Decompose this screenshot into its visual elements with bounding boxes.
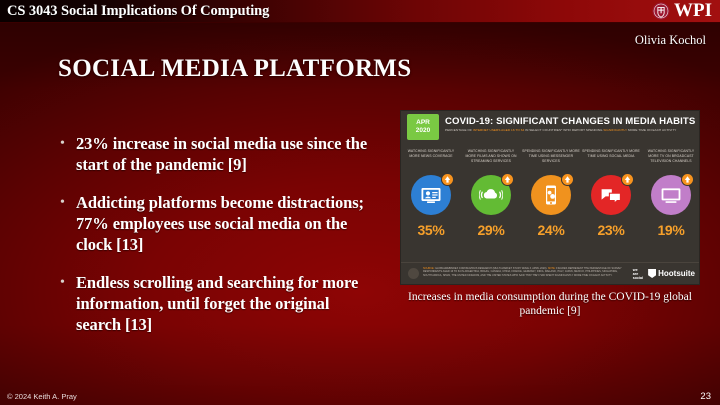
- hootsuite-logo: Hootsuite: [648, 269, 695, 278]
- infographic-columns: Watching significantly more news coverag…: [401, 149, 700, 261]
- badge-year: 2020: [416, 127, 430, 135]
- stat-label: Watching significantly more news coverag…: [402, 149, 460, 173]
- stat-column: Watching significantly more news coverag…: [401, 149, 461, 261]
- slide-canvas: CS 3043 Social Implications Of Computing…: [0, 0, 720, 405]
- stat-label: Spending significantly more time using m…: [522, 149, 580, 173]
- date-badge: APR 2020: [407, 114, 439, 140]
- stat-column: Watching significantly more films and sh…: [461, 149, 521, 261]
- covid-media-habits-infographic: APR 2020 COVID-19: SIGNIFICANT CHANGES I…: [400, 110, 700, 285]
- hootsuite-owl-icon: [648, 269, 656, 278]
- stat-value: 29%: [477, 222, 504, 238]
- stat-column: Spending significantly more time using s…: [581, 149, 641, 261]
- stat-icon-wrap: [651, 175, 691, 215]
- we-are-social-logo: we are social: [633, 269, 643, 281]
- stat-value: 35%: [417, 222, 444, 238]
- list-item: • Addicting platforms become distraction…: [56, 192, 372, 255]
- bullet-marker-icon: •: [56, 192, 76, 255]
- stat-value: 24%: [537, 222, 564, 238]
- source-dot-icon: [408, 268, 419, 279]
- figure-block: APR 2020 COVID-19: SIGNIFICANT CHANGES I…: [400, 110, 700, 318]
- infographic-title: COVID-19: SIGNIFICANT CHANGES IN MEDIA H…: [445, 116, 695, 127]
- increase-badge-icon: [441, 173, 454, 186]
- bullet-list: • 23% increase in social media use since…: [56, 133, 372, 352]
- stat-icon-wrap: [591, 175, 631, 215]
- page-title: SOCIAL MEDIA PLATFORMS: [58, 55, 411, 83]
- list-item: • Endless scrolling and searching for mo…: [56, 272, 372, 335]
- stat-icon-wrap: [411, 175, 451, 215]
- subtitle-pre: PERCENTAGE OF: [445, 128, 473, 132]
- subtitle-mid: IN SELECT COUNTRIES* WHO REPORT SPENDING: [524, 128, 603, 132]
- wpi-crest-icon: [652, 2, 670, 20]
- bullet-marker-icon: •: [56, 133, 76, 175]
- wpi-logo: WPI: [652, 1, 712, 20]
- copyright-notice: © 2024 Keith A. Pray: [7, 392, 77, 401]
- slide-header-bar: CS 3043 Social Implications Of Computing: [0, 0, 720, 23]
- list-item: • 23% increase in social media use since…: [56, 133, 372, 175]
- bullet-text: Addicting platforms become distractions;…: [76, 192, 372, 255]
- stat-label: Spending significantly more time using s…: [582, 149, 640, 173]
- bullet-text: 23% increase in social media use since t…: [76, 133, 372, 175]
- infographic-footnote: SOURCE: GLOBALWEBINDEX CORONAVIRUS RESEA…: [423, 267, 623, 277]
- increase-badge-icon: [621, 173, 634, 186]
- stat-icon-wrap: [471, 175, 511, 215]
- infographic-footer: SOURCE: GLOBALWEBINDEX CORONAVIRUS RESEA…: [401, 262, 700, 284]
- stat-label: Watching significantly more films and sh…: [462, 149, 520, 173]
- stat-column: Watching significantly more TV on broadc…: [641, 149, 700, 261]
- subtitle-highlight-1: INTERNET USERS AGED 16 TO 64: [473, 128, 524, 132]
- increase-badge-icon: [561, 173, 574, 186]
- stat-value: 19%: [657, 222, 684, 238]
- infographic-header: APR 2020 COVID-19: SIGNIFICANT CHANGES I…: [401, 111, 699, 143]
- badge-month: APR: [416, 119, 430, 127]
- stat-value: 23%: [597, 222, 624, 238]
- stat-label: Watching significantly more TV on broadc…: [642, 149, 700, 173]
- presenter-name: Olivia Kochol: [635, 33, 706, 48]
- course-title: CS 3043 Social Implications Of Computing: [7, 3, 269, 20]
- wpi-wordmark: WPI: [674, 1, 712, 20]
- page-number: 23: [700, 391, 711, 402]
- bullet-marker-icon: •: [56, 272, 76, 335]
- hootsuite-wordmark: Hootsuite: [658, 270, 695, 278]
- increase-badge-icon: [501, 173, 514, 186]
- infographic-subtitle: PERCENTAGE OF INTERNET USERS AGED 16 TO …: [445, 128, 697, 132]
- brand-social: social: [633, 277, 643, 281]
- subtitle-highlight-2: SIGNIFICANTLY: [603, 128, 627, 132]
- subtitle-post: MORE TIME ON EACH ACTIVITY: [627, 128, 676, 132]
- bullet-text: Endless scrolling and searching for more…: [76, 272, 372, 335]
- figure-caption: Increases in media consumption during th…: [400, 290, 700, 318]
- stat-icon-wrap: [531, 175, 571, 215]
- increase-badge-icon: [681, 173, 694, 186]
- stat-column: Spending significantly more time using m…: [521, 149, 581, 261]
